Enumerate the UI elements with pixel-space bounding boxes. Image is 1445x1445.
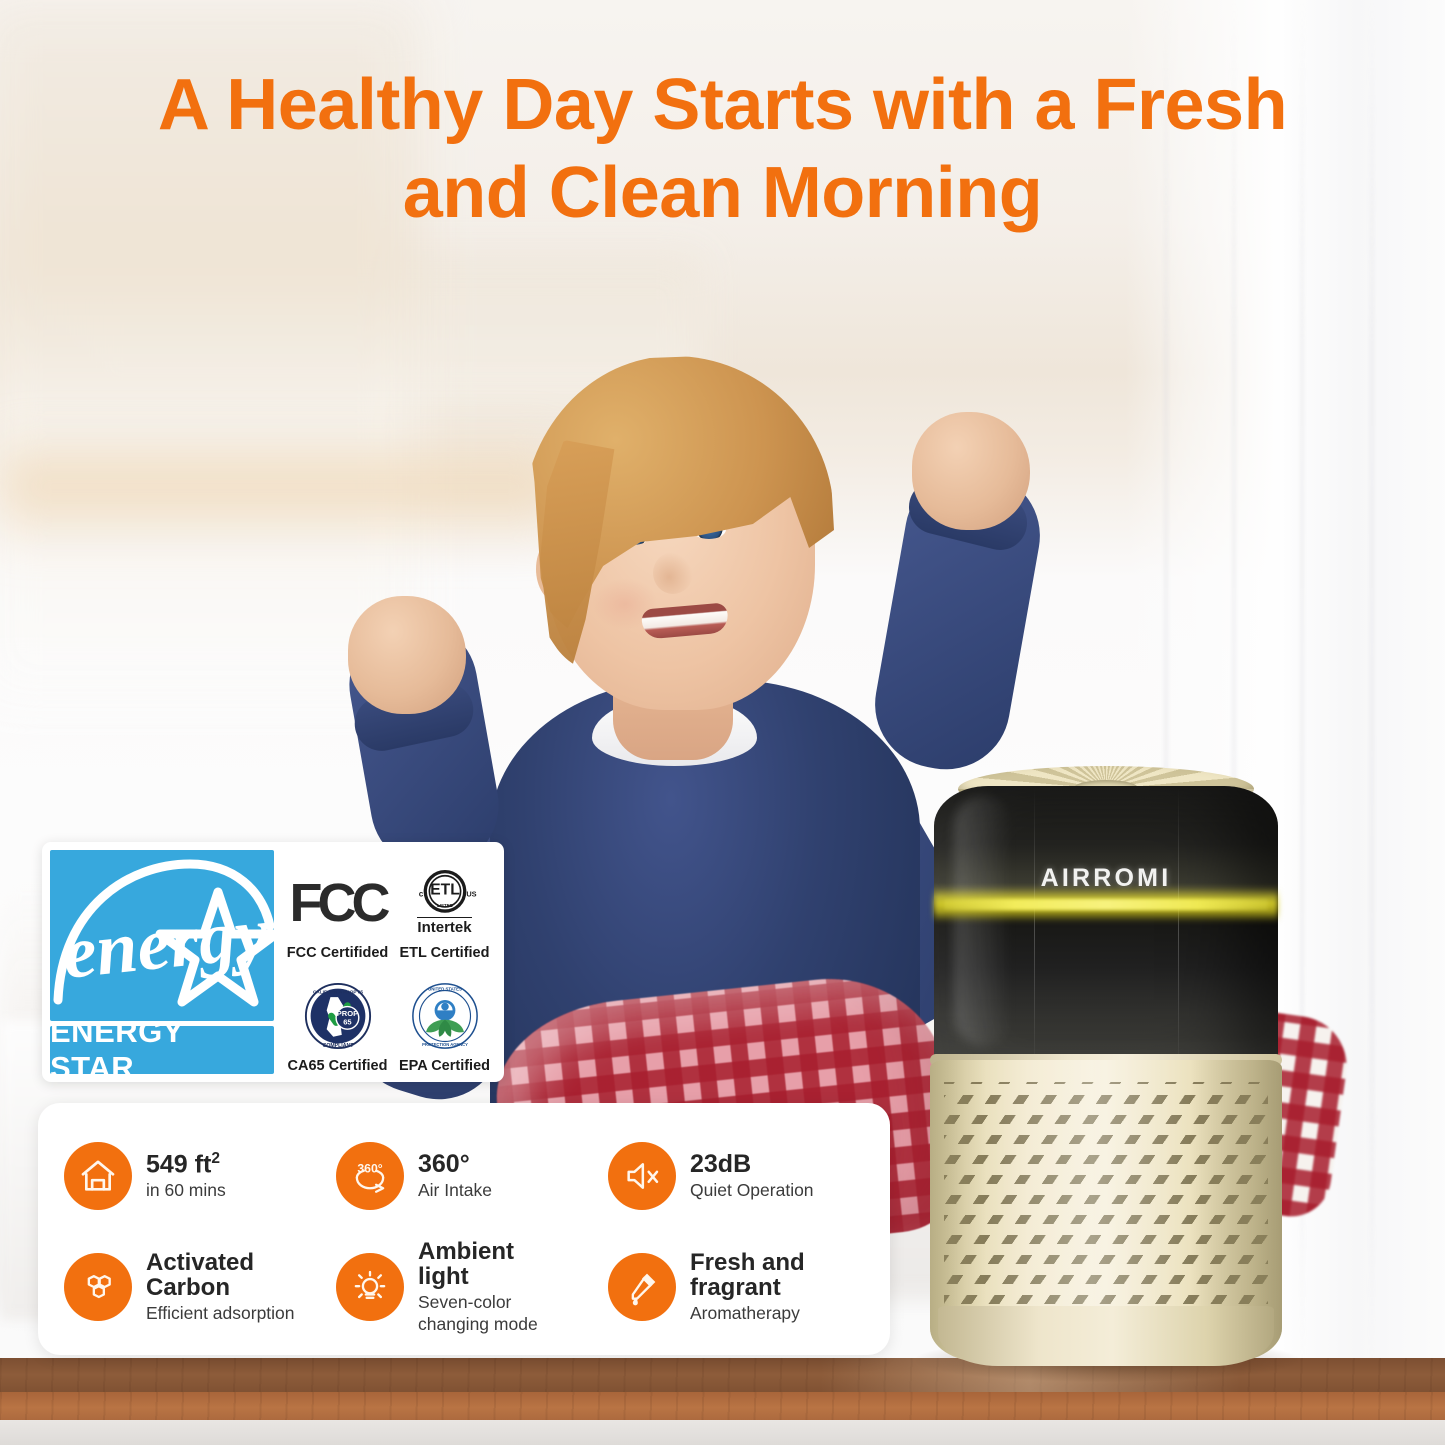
mute-speaker-icon	[608, 1142, 676, 1210]
feature-ambient-light-sub: Seven-color	[418, 1292, 538, 1312]
dropper-icon	[608, 1253, 676, 1321]
ca65-icon: PROP 65 CALIFORNIA PROP 65 COMPLIANT	[304, 979, 372, 1053]
feature-ambient-light-title2: light	[418, 1264, 538, 1289]
energy-star-band: ENERGY STAR	[50, 1026, 274, 1074]
svg-text:360°: 360°	[357, 1161, 382, 1175]
feature-air-intake-sub: Air Intake	[418, 1180, 492, 1200]
certification-panel: energy ENERGY STAR FCC FCC Certifided ET…	[42, 842, 504, 1082]
svg-text:65: 65	[343, 1018, 351, 1027]
shell-facet-left	[1034, 788, 1035, 1076]
cert-item-fcc: FCC FCC Certifided	[286, 850, 389, 961]
cert-item-etl: ETL LISTED c US Intertek ETL Certified	[393, 850, 496, 961]
cert-label-ca65: CA65 Certified	[288, 1058, 388, 1074]
feature-ambient-light-title: Ambient	[418, 1239, 538, 1264]
energy-star-logo: energy ENERGY STAR	[50, 850, 274, 1074]
feature-air-intake-title: 360°	[418, 1151, 492, 1178]
child-right-fist	[912, 412, 1030, 530]
feature-quiet-sub: Quiet Operation	[690, 1180, 814, 1200]
feature-activated-carbon-title: Activated	[146, 1250, 295, 1275]
ambient-light-core	[944, 899, 1268, 910]
lightbulb-icon	[336, 1253, 404, 1321]
feature-coverage-sub: in 60 mins	[146, 1180, 226, 1200]
cert-label-etl: ETL Certified	[400, 945, 490, 961]
energy-star-icon: energy	[50, 850, 274, 1021]
cert-item-epa: UNITED STATES PROTECTION AGENCY EPA Cert…	[393, 963, 496, 1074]
honeycomb-icon	[64, 1253, 132, 1321]
svg-text:UNITED STATES: UNITED STATES	[428, 987, 462, 992]
fcc-icon: FCC	[290, 866, 386, 940]
feature-air-intake: 360° 360° Air Intake	[336, 1123, 604, 1228]
svg-text:CALIFORNIA PROP 65: CALIFORNIA PROP 65	[312, 989, 362, 995]
product-brand-label: AIRROMI	[928, 864, 1284, 893]
floor	[0, 1420, 1445, 1445]
feature-fragrance-sub: Aromatherapy	[690, 1303, 805, 1323]
feature-activated-carbon: Activated Carbon Efficient adsorption	[64, 1234, 332, 1339]
svg-text:ETL: ETL	[430, 882, 460, 899]
feature-coverage-title: 549 ft2	[146, 1151, 226, 1178]
child-left-fist	[348, 596, 466, 714]
svg-text:PROTECTION AGENCY: PROTECTION AGENCY	[422, 1042, 468, 1047]
child-nose	[653, 552, 693, 594]
svg-text:US: US	[466, 889, 476, 898]
headline-line-2: and Clean Morning	[0, 150, 1445, 238]
house-icon	[64, 1142, 132, 1210]
rotate-360-icon: 360°	[336, 1142, 404, 1210]
cert-label-fcc: FCC Certifided	[287, 945, 389, 961]
energy-star-band-label: ENERGY STAR	[50, 1014, 274, 1086]
air-purifier-product: AIRROMI	[928, 766, 1284, 1388]
feature-quiet: 23dB Quiet Operation	[608, 1123, 876, 1228]
feature-quiet-title: 23dB	[690, 1151, 814, 1178]
etl-icon: ETL LISTED c US Intertek	[395, 866, 495, 940]
page-title: A Healthy Day Starts with a Fresh and Cl…	[0, 62, 1445, 238]
product-base	[938, 1306, 1274, 1366]
svg-text:LISTED: LISTED	[436, 903, 453, 908]
cert-label-epa: EPA Certified	[399, 1058, 490, 1074]
feature-fragrance-title: Fresh and	[690, 1250, 805, 1275]
epa-icon: UNITED STATES PROTECTION AGENCY	[411, 979, 479, 1053]
feature-activated-carbon-sub: Efficient adsorption	[146, 1303, 295, 1323]
feature-coverage: 549 ft2 in 60 mins	[64, 1123, 332, 1228]
svg-text:c: c	[418, 889, 423, 898]
feature-fragrance: Fresh and fragrant Aromatherapy	[608, 1234, 876, 1339]
certification-grid: FCC FCC Certifided ETL LISTED c US Inter…	[280, 850, 496, 1074]
energy-star-mark: energy	[50, 850, 274, 1021]
feature-activated-carbon-title2: Carbon	[146, 1275, 295, 1300]
svg-text:COMPLIANT: COMPLIANT	[322, 1043, 354, 1049]
feature-fragrance-title2: fragrant	[690, 1275, 805, 1300]
feature-panel: 549 ft2 in 60 mins 360° 360° Air Intake	[38, 1103, 890, 1355]
feature-ambient-light: Ambient light Seven-color changing mode	[336, 1234, 604, 1339]
cert-item-ca65: PROP 65 CALIFORNIA PROP 65 COMPLIANT CA6…	[286, 963, 389, 1074]
headline-line-1: A Healthy Day Starts with a Fresh	[158, 65, 1287, 145]
intertek-label: Intertek	[417, 917, 471, 936]
feature-ambient-light-sub2: changing mode	[418, 1314, 538, 1334]
shell-facet-right	[1178, 788, 1179, 1076]
